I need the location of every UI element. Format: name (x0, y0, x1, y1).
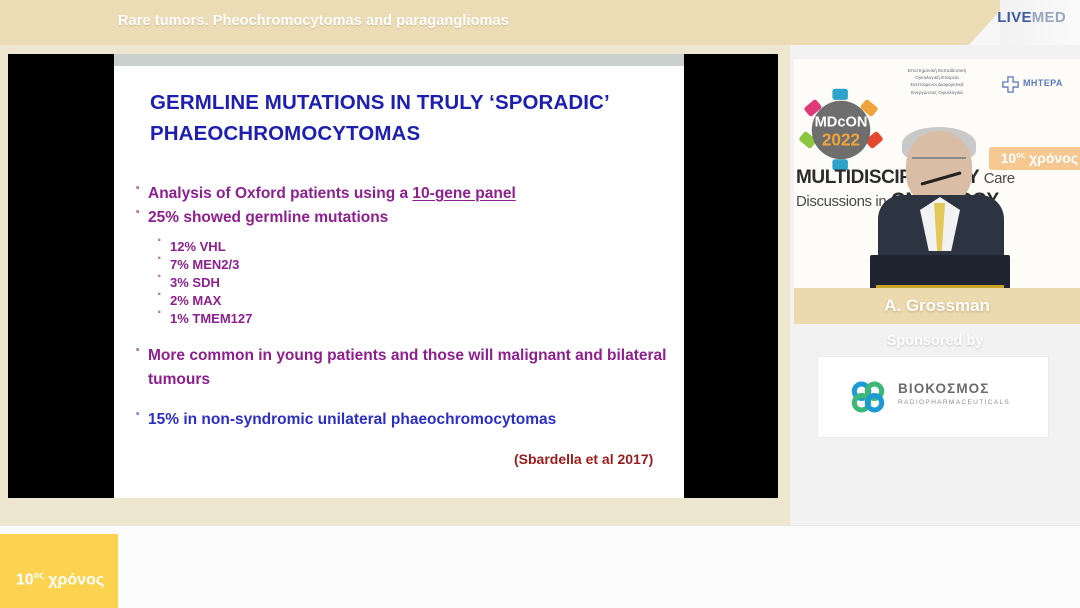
speaker-glasses (912, 157, 966, 167)
sub-bullet-item: 2% MAX (132, 292, 677, 310)
chronos-word: χρόνος (1029, 150, 1078, 166)
backdrop-mhtera-name: ΜΗΤΕΡΑ (1023, 78, 1063, 88)
sub-bullet-item: 1% TMEM127 (132, 310, 677, 328)
sub-bullet-item: 3% SDH (132, 274, 677, 292)
sub-bullet-item: 7% MEN2/3 (132, 256, 677, 274)
chronos-suffix: ος (1016, 150, 1025, 159)
slide-title-line1: GERMLINE MUTATIONS IN TRULY ‘SPORADIC’ (150, 87, 670, 118)
bullet-1-link-text: 10-gene panel (412, 185, 515, 202)
sponsor-subtitle: RADIOPHARMACEUTICALS (898, 399, 1010, 406)
livemed-live-text: LIVE (997, 9, 1032, 26)
slide-bullet-list: Analysis of Oxford patients using a 10-g… (132, 182, 677, 432)
sponsor-name: ΒΙΟΚΟΣΜΟΣ (898, 381, 989, 396)
session-title: Rare tumors. Pheochromocytomas and parag… (118, 13, 509, 29)
bullet-item-2: 25% showed germline mutations (132, 206, 677, 230)
presentation-viewer: Rare tumors. Pheochromocytomas and parag… (0, 0, 1080, 608)
svg-text:2022: 2022 (822, 129, 860, 149)
biokosmos-knot-icon (846, 379, 890, 415)
slide-content: GERMLINE MUTATIONS IN TRULY ‘SPORADIC’ P… (114, 54, 684, 498)
mhtera-cross-icon (1002, 76, 1019, 93)
backdrop-organizer-line: Σκεπτόμενοι Διαφορετικά (882, 81, 992, 88)
chronos-bottom-word: χρόνος (48, 571, 104, 588)
slide-citation: (Sbardella et al 2017) (514, 451, 653, 467)
slide-area[interactable]: GERMLINE MUTATIONS IN TRULY ‘SPORADIC’ P… (0, 45, 790, 525)
livemed-med-text: MED (1032, 9, 1066, 26)
bullet-spacer (132, 392, 677, 408)
slide-top-strip (114, 54, 684, 66)
livemed-logo[interactable]: LIVEMED (997, 9, 1066, 26)
slide-pillarbox-right (684, 54, 778, 498)
bullet-spacer (132, 328, 677, 344)
speaker-name: A. Grossman (794, 296, 1080, 316)
chronos-bottom-suffix: ος (34, 570, 44, 580)
slide-pillarbox-left (8, 54, 114, 498)
speaker-head (906, 131, 972, 205)
bullet-item-4: 15% in non-syndromic unilateral phaeochr… (132, 408, 677, 432)
sponsored-by-label: Sponsored by (790, 333, 1080, 349)
chronos-yellow-block: 10ος χρόνος (0, 534, 118, 608)
bullet-spacer (132, 230, 677, 238)
backdrop-organizer-line: Ενεργώντας Ογκολογικά (882, 89, 992, 96)
backdrop-organizer-line: Επιστημονική Εκπαιδευτική (882, 67, 992, 74)
slide-title-line2: PHAEOCHROMOCYTOMAS (150, 118, 670, 149)
backdrop-organizer-text: Επιστημονική ΕκπαιδευτικήΟγκολογική Εται… (882, 67, 992, 96)
slide-title: GERMLINE MUTATIONS IN TRULY ‘SPORADIC’ P… (150, 87, 670, 149)
svg-text:MDcON: MDcON (815, 115, 868, 131)
chronos-bottom-number: 10 (16, 571, 34, 588)
bottom-divider (0, 525, 1080, 526)
backdrop-mhtera-logo: ΜΗΤΕΡΑ (1002, 75, 1080, 97)
sub-bullet-item: 12% VHL (132, 238, 677, 256)
bullet-item-3: More common in young patients and those … (132, 344, 677, 392)
speaker-video[interactable]: Επιστημονική ΕκπαιδευτικήΟγκολογική Εται… (794, 59, 1080, 324)
top-bar: Rare tumors. Pheochromocytomas and parag… (0, 0, 1080, 45)
bullet-item-1: Analysis of Oxford patients using a 10-g… (132, 182, 677, 206)
video-panel: Επιστημονική ΕκπαιδευτικήΟγκολογική Εται… (790, 45, 1080, 525)
bottom-bar: 10ος χρόνος MDcON 2022 MULTIDISCIPLINARY… (0, 525, 1080, 608)
speaker-name-band: A. Grossman (794, 288, 1080, 324)
backdrop-organizer-line: Ογκολογική Εταιρεία (882, 74, 992, 81)
sponsor-logo-inner: ΒΙΟΚΟΣΜΟΣ RADIOPHARMACEUTICALS (846, 377, 1022, 419)
sponsor-logo-box[interactable]: ΒΙΟΚΟΣΜΟΣ RADIOPHARMACEUTICALS (818, 357, 1048, 437)
chronos-badge-bottom: 10ος χρόνος (10, 570, 110, 589)
bullet-1-text: Analysis of Oxford patients using a (148, 185, 412, 202)
